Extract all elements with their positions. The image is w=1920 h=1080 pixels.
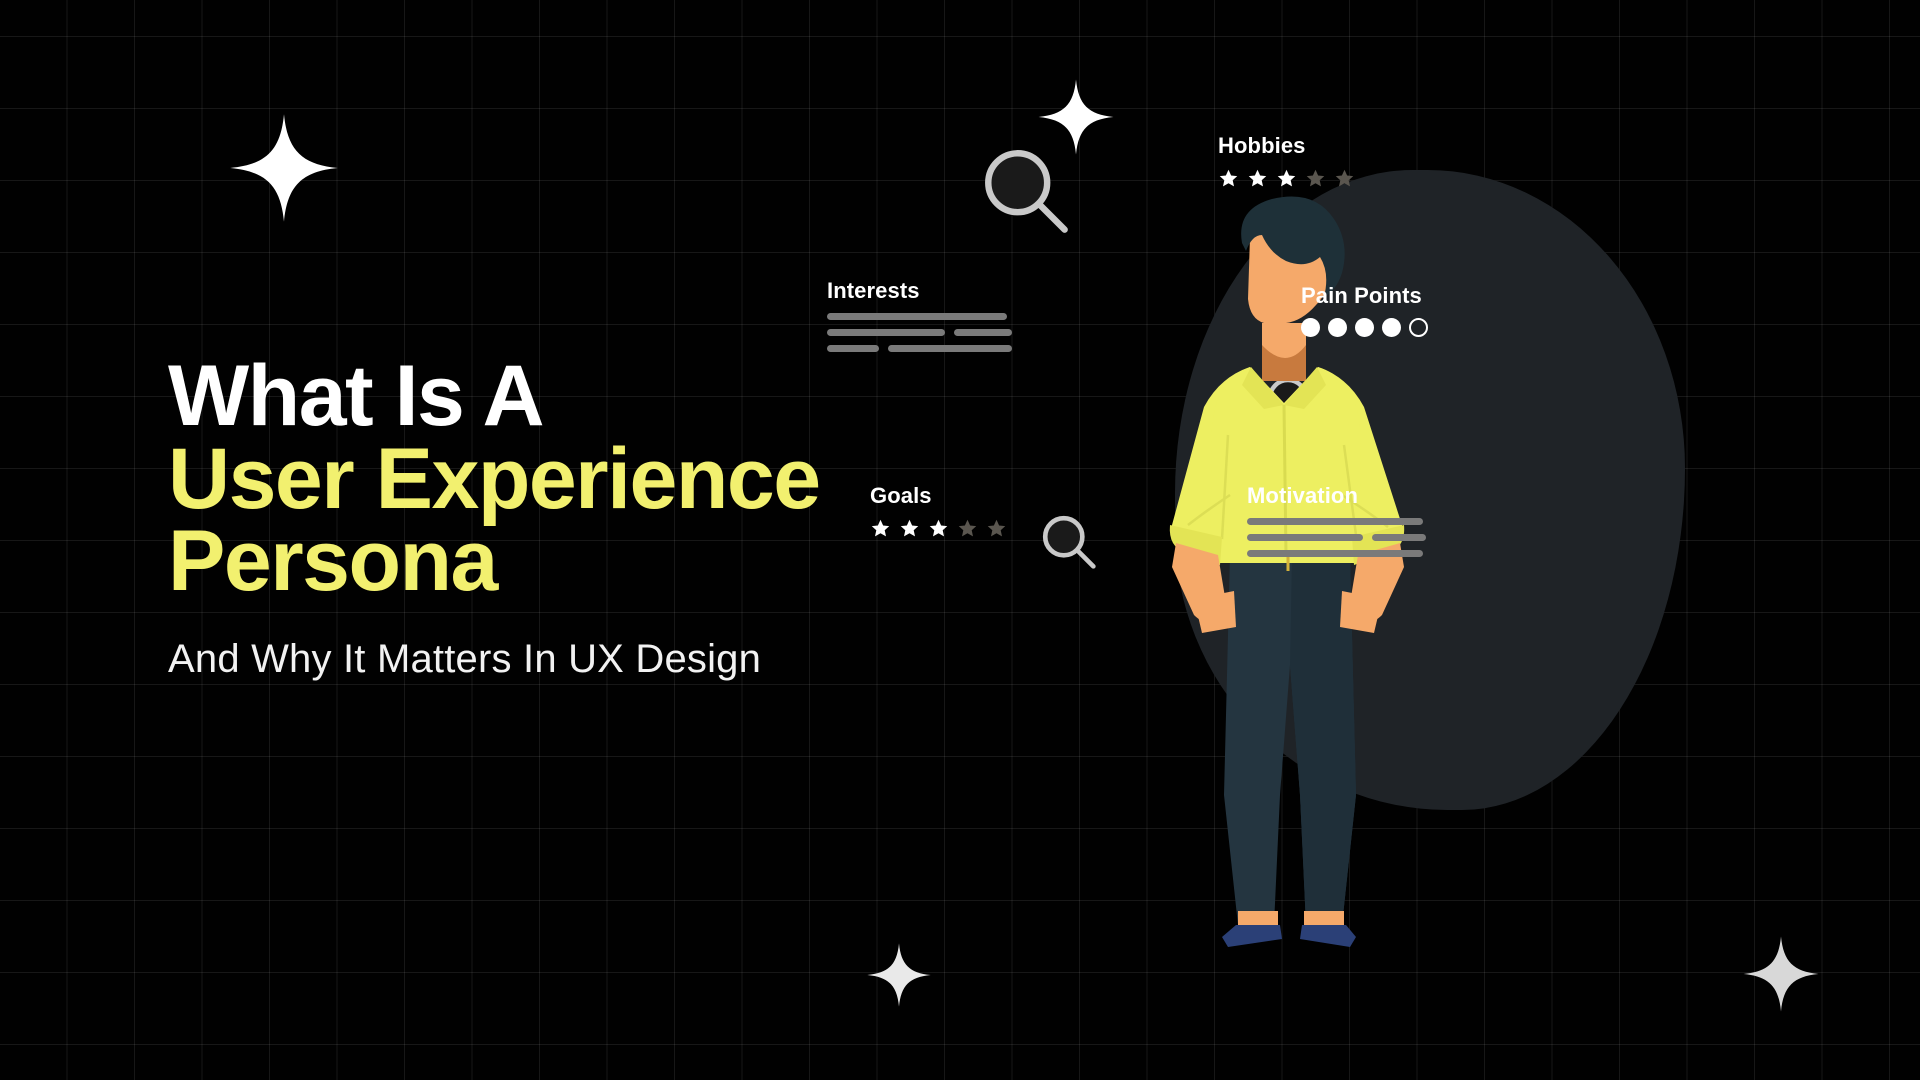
dot-icon: [1301, 318, 1320, 337]
magnifier-icon: [980, 145, 1072, 237]
line-row: [1247, 550, 1426, 557]
interests-placeholder-lines: [827, 313, 1012, 352]
attribute-pain-points: Pain Points: [1301, 283, 1428, 337]
line-row: [1247, 534, 1426, 541]
line-row: [827, 313, 1012, 320]
title-line-1: What Is A: [168, 348, 543, 444]
line-row: [827, 329, 1012, 336]
line-bar: [827, 329, 945, 336]
line-bar: [1247, 550, 1423, 557]
star-icon: [1218, 168, 1239, 189]
attribute-motivation: Motivation: [1247, 483, 1426, 557]
attribute-title: Interests: [827, 278, 1012, 304]
line-row: [827, 345, 1012, 352]
page-title: What Is A User Experience Persona: [168, 355, 998, 603]
shoe-left: [1222, 925, 1282, 947]
attribute-hobbies: Hobbies: [1218, 133, 1355, 189]
attribute-title: Motivation: [1247, 483, 1426, 509]
line-bar: [1247, 518, 1423, 525]
attribute-title: Hobbies: [1218, 133, 1355, 159]
magnifier-icon: [1040, 513, 1098, 571]
illustration-area: Hobbies Interests: [960, 0, 1920, 1080]
shoe-right: [1300, 925, 1356, 947]
dot-icon: [1409, 318, 1428, 337]
star-icon: [1334, 168, 1355, 189]
sparkle-icon: [866, 942, 932, 1008]
line-bar: [954, 329, 1012, 336]
line-bar: [1247, 534, 1363, 541]
line-bar: [827, 313, 1007, 320]
hobbies-star-rating: [1218, 168, 1355, 189]
pain-points-dot-rating: [1301, 318, 1428, 337]
motivation-placeholder-lines: [1247, 518, 1426, 557]
line-bar: [888, 345, 1012, 352]
goals-star-rating: [870, 518, 1007, 539]
star-icon: [957, 518, 978, 539]
dot-icon: [1328, 318, 1347, 337]
star-icon: [1305, 168, 1326, 189]
dot-icon: [1355, 318, 1374, 337]
star-icon: [928, 518, 949, 539]
attribute-title: Goals: [870, 483, 1007, 509]
attribute-interests: Interests: [827, 278, 1012, 352]
star-icon: [1247, 168, 1268, 189]
star-icon: [1276, 168, 1297, 189]
poster-canvas: What Is A User Experience Persona And Wh…: [0, 0, 1920, 1080]
star-icon: [986, 518, 1007, 539]
line-bar: [1372, 534, 1426, 541]
attribute-goals: Goals: [870, 483, 1007, 539]
star-icon: [870, 518, 891, 539]
line-bar: [827, 345, 879, 352]
dot-icon: [1382, 318, 1401, 337]
star-icon: [899, 518, 920, 539]
page-subtitle: And Why It Matters In UX Design: [168, 637, 998, 682]
sparkle-icon: [228, 112, 340, 224]
line-row: [1247, 518, 1426, 525]
attribute-title: Pain Points: [1301, 283, 1428, 309]
